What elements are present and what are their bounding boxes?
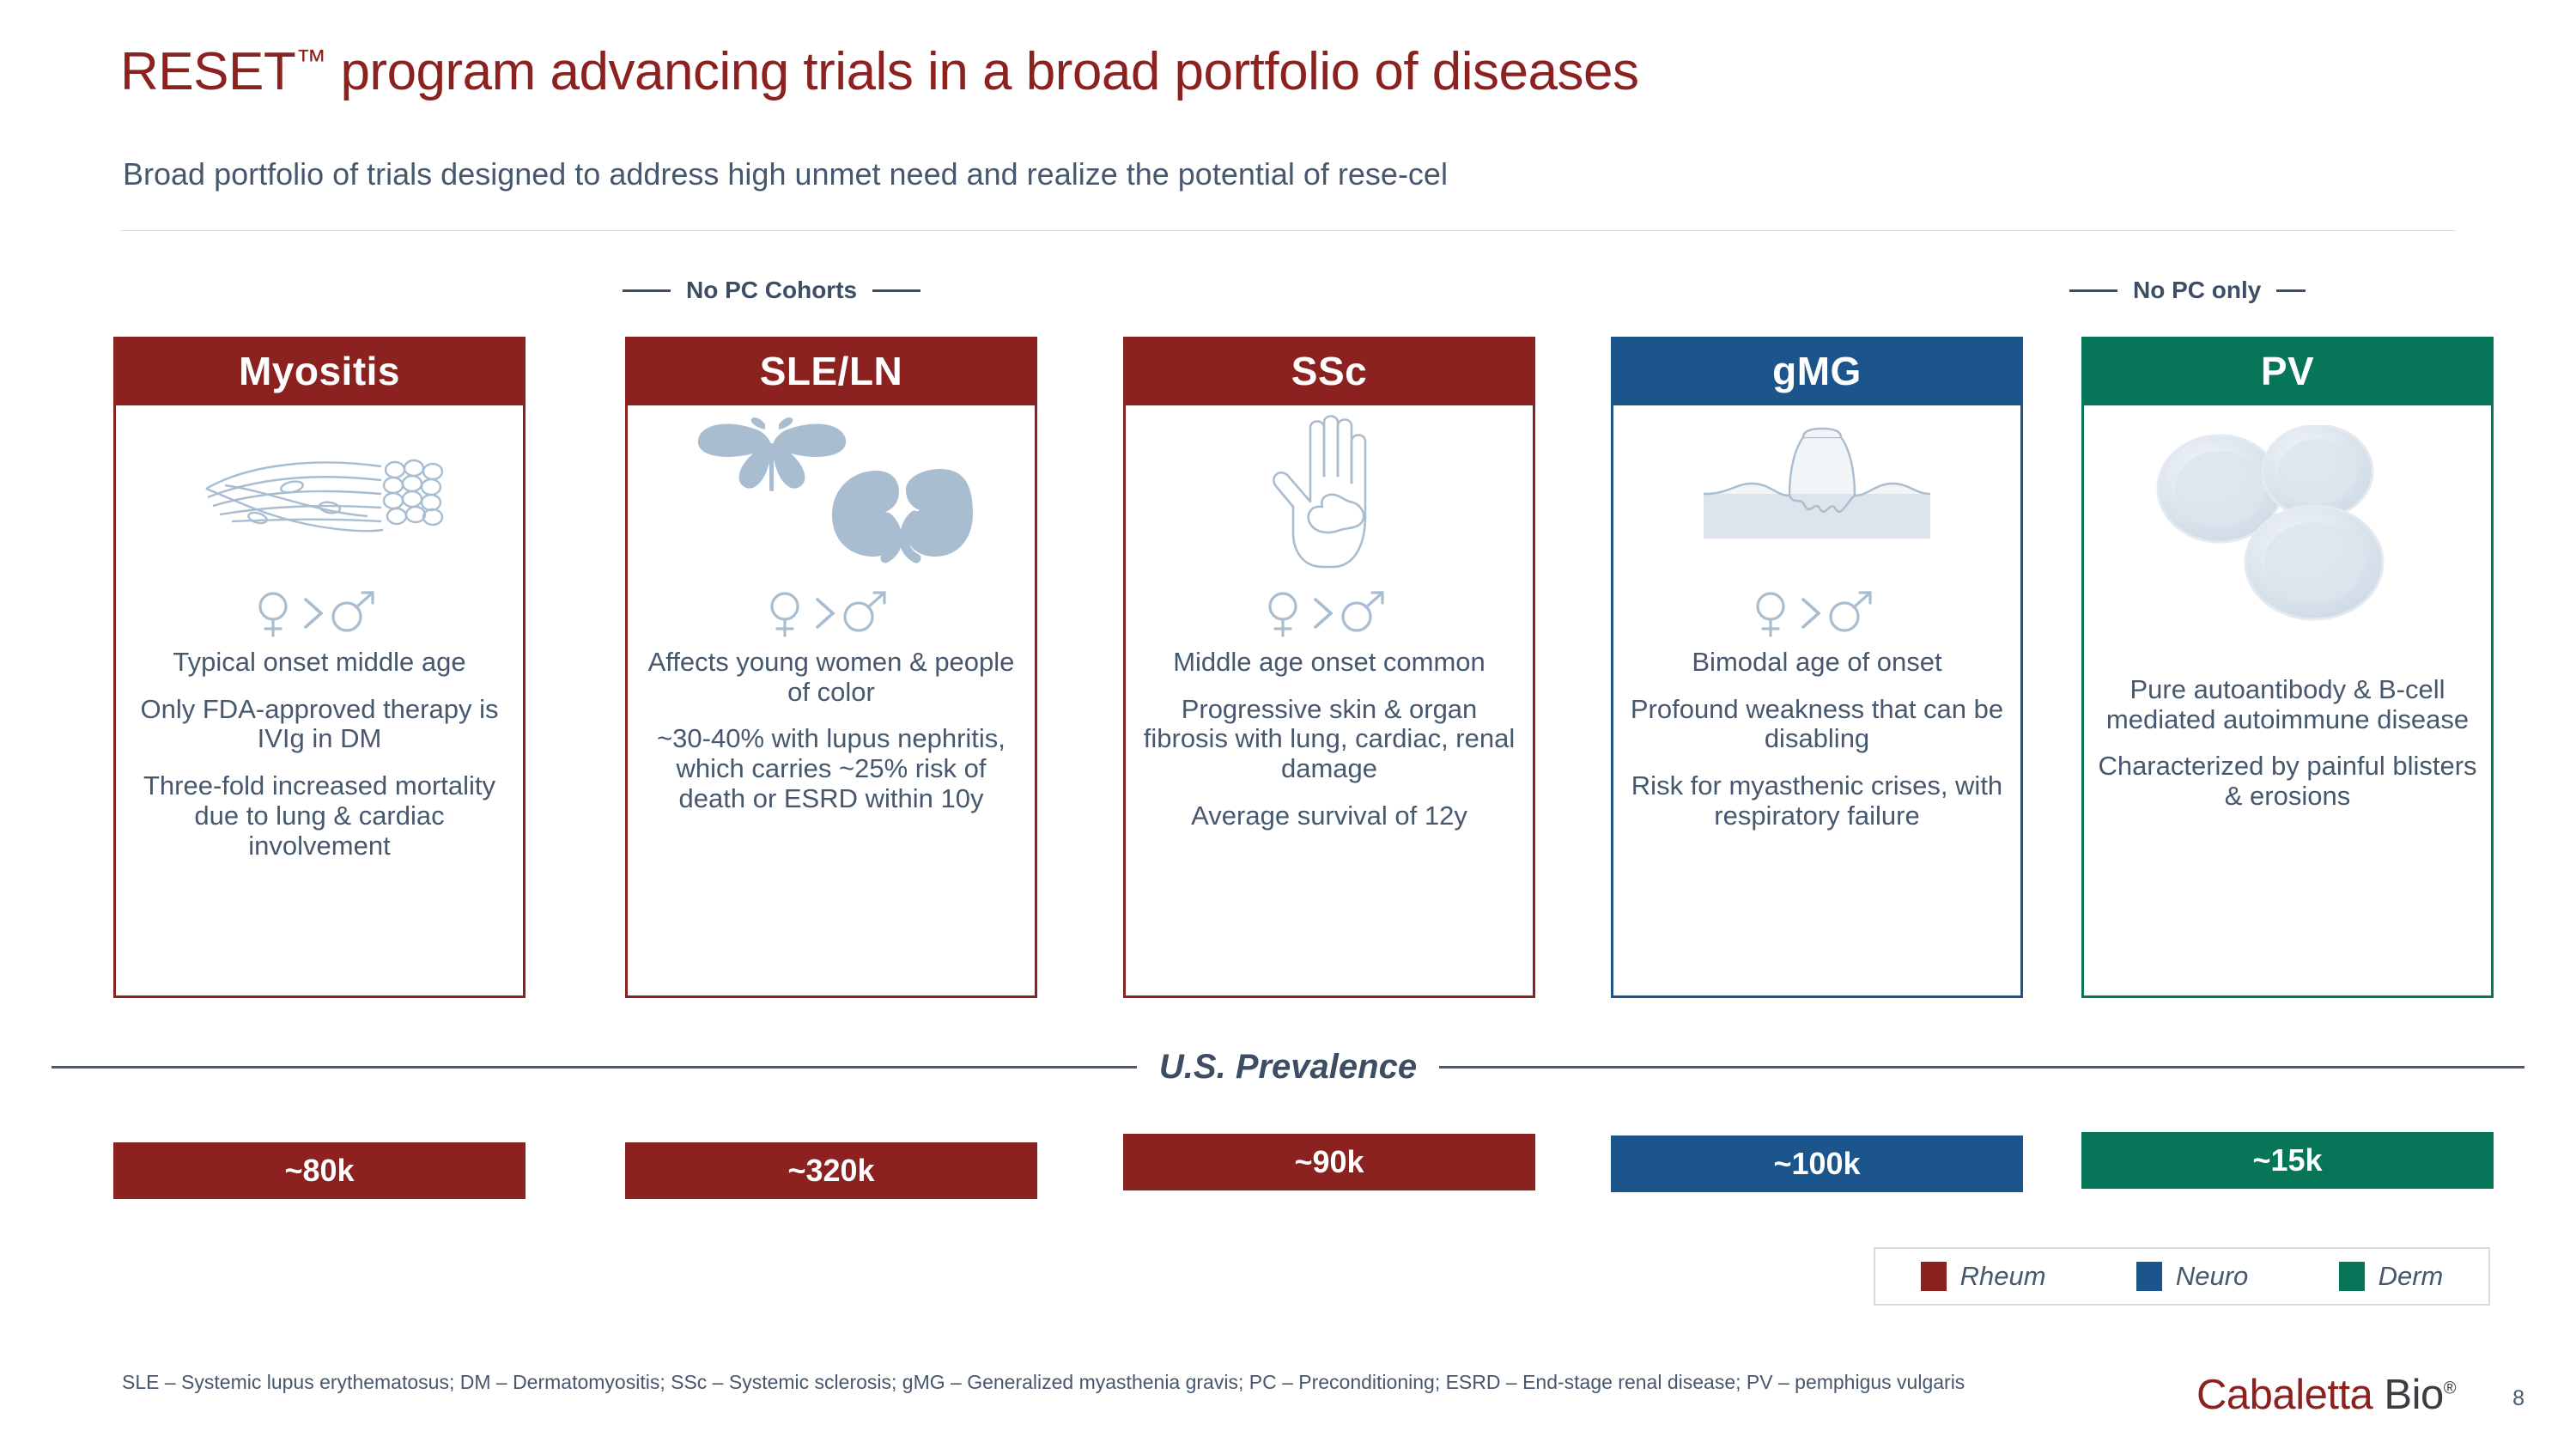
prevalence-value: ~320k <box>787 1153 874 1189</box>
dash-left-icon <box>623 289 671 292</box>
b-cells-icon <box>2084 405 2491 642</box>
legend-item-derm: Derm <box>2339 1261 2444 1292</box>
legend-item-rheum: Rheum <box>1921 1261 2046 1292</box>
logo-secondary-text: Bio <box>2372 1372 2443 1418</box>
card-title: PV <box>2081 337 2494 405</box>
list-item: Three-fold increased mortality due to lu… <box>128 771 511 861</box>
footnote: SLE – Systemic lupus erythematosus; DM –… <box>122 1369 2028 1396</box>
registered-trademark-icon: ® <box>2444 1379 2456 1398</box>
legend-swatch-derm <box>2339 1262 2365 1291</box>
prevalence-bar-ssc: ~90k <box>1123 1134 1535 1190</box>
card-title: Myositis <box>113 337 526 405</box>
card-body: Pure autoantibody & B-cell mediated auto… <box>2081 405 2494 998</box>
female-greater-than-male-icon <box>1261 586 1398 642</box>
list-item: Only FDA-approved therapy is IVIg in DM <box>128 695 511 754</box>
logo-primary-text: Cabaletta <box>2196 1372 2372 1418</box>
legend: Rheum Neuro Derm <box>1874 1247 2490 1306</box>
butterfly-kidney-icon <box>628 405 1035 586</box>
card-bullets: Affects young women & people of color ~3… <box>628 648 1035 814</box>
divider-line-right <box>1439 1066 2524 1068</box>
list-item: Typical onset middle age <box>173 648 465 678</box>
card-title: gMG <box>1611 337 2023 405</box>
card-bullets: Middle age onset common Progressive skin… <box>1126 648 1533 831</box>
dash-right-icon <box>2276 289 2306 292</box>
female-greater-than-male-icon <box>251 586 388 642</box>
prevalence-value: ~15k <box>2252 1142 2322 1178</box>
female-greater-than-male-icon <box>1748 586 1886 642</box>
prevalence-value: ~90k <box>1294 1144 1364 1180</box>
disease-card-ssc[interactable]: SSc <box>1123 337 1535 998</box>
dash-right-icon <box>872 289 920 292</box>
list-item: Pure autoantibody & B-cell mediated auto… <box>2096 675 2479 734</box>
list-item: ~30-40% with lupus nephritis, which carr… <box>640 724 1023 813</box>
page-subtitle: Broad portfolio of trials designed to ad… <box>123 156 1448 192</box>
company-logo: Cabaletta Bio® <box>2196 1371 2456 1419</box>
list-item: Average survival of 12y <box>1191 801 1467 831</box>
dash-left-icon <box>2069 289 2117 292</box>
legend-swatch-rheum <box>1921 1262 1947 1291</box>
legend-label: Neuro <box>2176 1261 2248 1292</box>
female-greater-than-male-icon <box>762 586 900 642</box>
disease-card-pv[interactable]: PV <box>2081 337 2494 998</box>
card-body: Typical onset middle age Only FDA-approv… <box>113 405 526 998</box>
page-title-brand: RESET <box>120 42 295 101</box>
divider-line-left <box>52 1066 1137 1068</box>
legend-label: Rheum <box>1960 1261 2046 1292</box>
card-title: SSc <box>1123 337 1535 405</box>
page-title-rest: program advancing trials in a broad port… <box>326 42 1639 101</box>
prevalence-divider: U.S. Prevalence <box>52 1050 2524 1084</box>
prevalence-bar-myositis: ~80k <box>113 1142 526 1199</box>
list-item: Affects young women & people of color <box>640 648 1023 707</box>
legend-label: Derm <box>2379 1261 2444 1292</box>
disease-card-myositis[interactable]: Myositis <box>113 337 526 998</box>
page-title: RESET™ program advancing trials in a bro… <box>120 41 1638 102</box>
list-item: Characterized by painful blisters & eros… <box>2096 752 2479 811</box>
card-bullets: Typical onset middle age Only FDA-approv… <box>116 648 523 861</box>
muscle-fiber-icon <box>116 405 523 586</box>
legend-swatch-neuro <box>2136 1262 2162 1291</box>
disease-card-gmg[interactable]: gMG <box>1611 337 2023 998</box>
prevalence-label: U.S. Prevalence <box>1137 1048 1439 1087</box>
list-item: Profound weakness that can be disabling <box>1625 695 2008 754</box>
card-bullets: Pure autoantibody & B-cell mediated auto… <box>2084 675 2491 812</box>
card-bullets: Bimodal age of onset Profound weakness t… <box>1613 648 2020 831</box>
group-label-text: No PC only <box>2133 277 2261 304</box>
list-item: Risk for myasthenic crises, with respira… <box>1625 771 2008 831</box>
list-item: Middle age onset common <box>1173 648 1485 678</box>
card-title: SLE/LN <box>625 337 1037 405</box>
hand-fibrosis-icon <box>1126 405 1533 586</box>
neuromuscular-junction-icon <box>1613 405 2020 586</box>
prevalence-bar-sle-ln: ~320k <box>625 1142 1037 1199</box>
card-body: Middle age onset common Progressive skin… <box>1123 405 1535 998</box>
prevalence-value: ~80k <box>284 1153 354 1189</box>
header-divider <box>120 230 2456 231</box>
trademark-icon: ™ <box>295 42 326 77</box>
group-label-text: No PC Cohorts <box>686 277 857 304</box>
prevalence-bar-pv: ~15k <box>2081 1132 2494 1189</box>
disease-card-sle-ln[interactable]: SLE/LN <box>625 337 1037 998</box>
page-number: 8 <box>2512 1386 2524 1411</box>
prevalence-value: ~100k <box>1773 1146 1860 1182</box>
list-item: Progressive skin & organ fibrosis with l… <box>1138 695 1521 784</box>
group-label-no-pc-cohorts: No PC Cohorts <box>623 277 920 304</box>
card-body: Bimodal age of onset Profound weakness t… <box>1611 405 2023 998</box>
legend-item-neuro: Neuro <box>2136 1261 2248 1292</box>
prevalence-bar-gmg: ~100k <box>1611 1135 2023 1192</box>
card-body: Affects young women & people of color ~3… <box>625 405 1037 998</box>
group-label-no-pc-only: No PC only <box>2069 277 2306 304</box>
list-item: Bimodal age of onset <box>1692 648 1941 678</box>
slide-root: RESET™ program advancing trials in a bro… <box>0 0 2576 1449</box>
